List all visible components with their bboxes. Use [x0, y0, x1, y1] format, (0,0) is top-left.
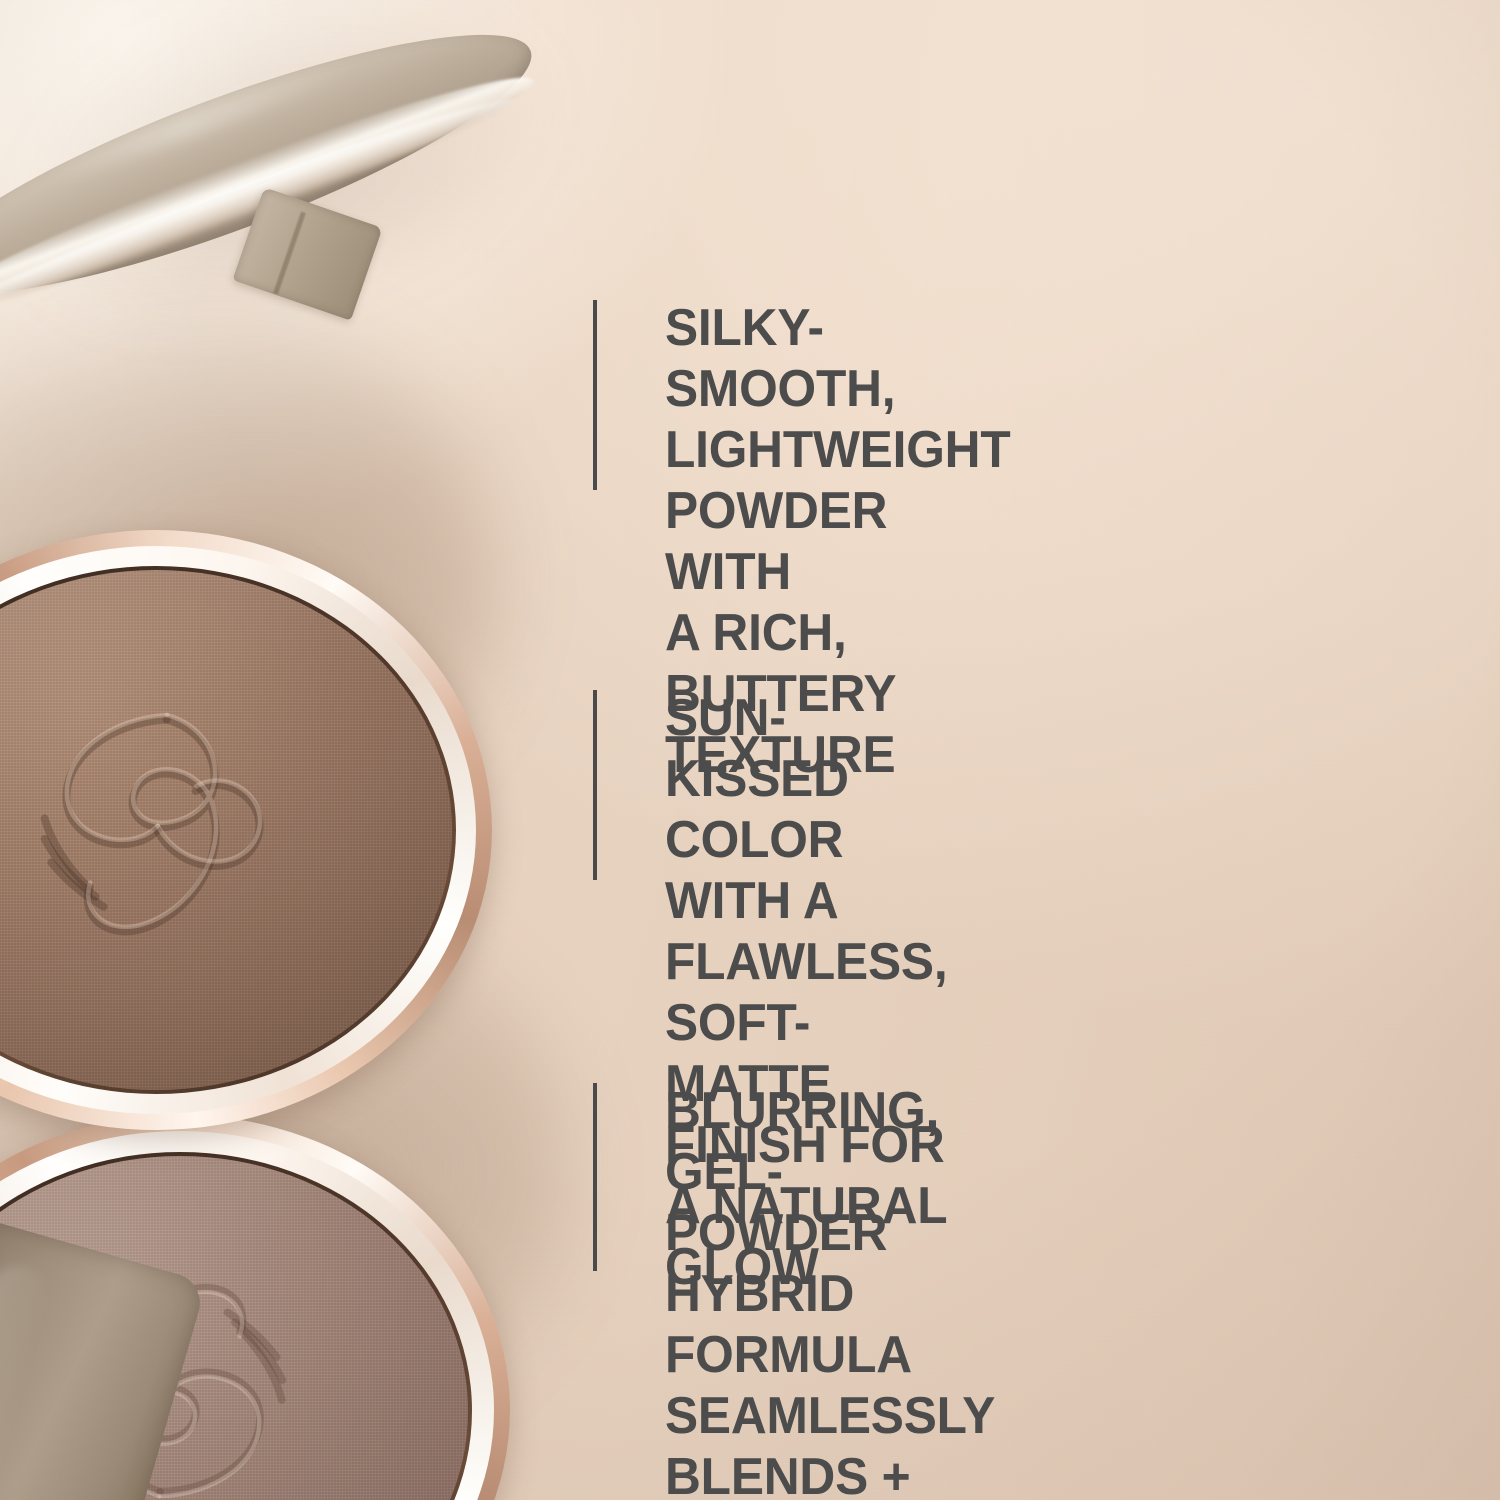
- feature-accent-bar-2: [593, 690, 597, 880]
- feature-accent-bar-1: [593, 300, 597, 490]
- upper-pan-monogram-ab-icon: [0, 643, 342, 1017]
- feature-text-3: BLURRING, GEL-POWDER HYBRID FORMULA SEAM…: [665, 1081, 995, 1500]
- feature-list: SILKY-SMOOTH, LIGHTWEIGHT POWDER WITH A …: [590, 0, 1500, 1500]
- product-photo: [0, 0, 620, 1500]
- product-marketing-image: SILKY-SMOOTH, LIGHTWEIGHT POWDER WITH A …: [0, 0, 1500, 1500]
- feature-accent-bar-3: [593, 1083, 597, 1271]
